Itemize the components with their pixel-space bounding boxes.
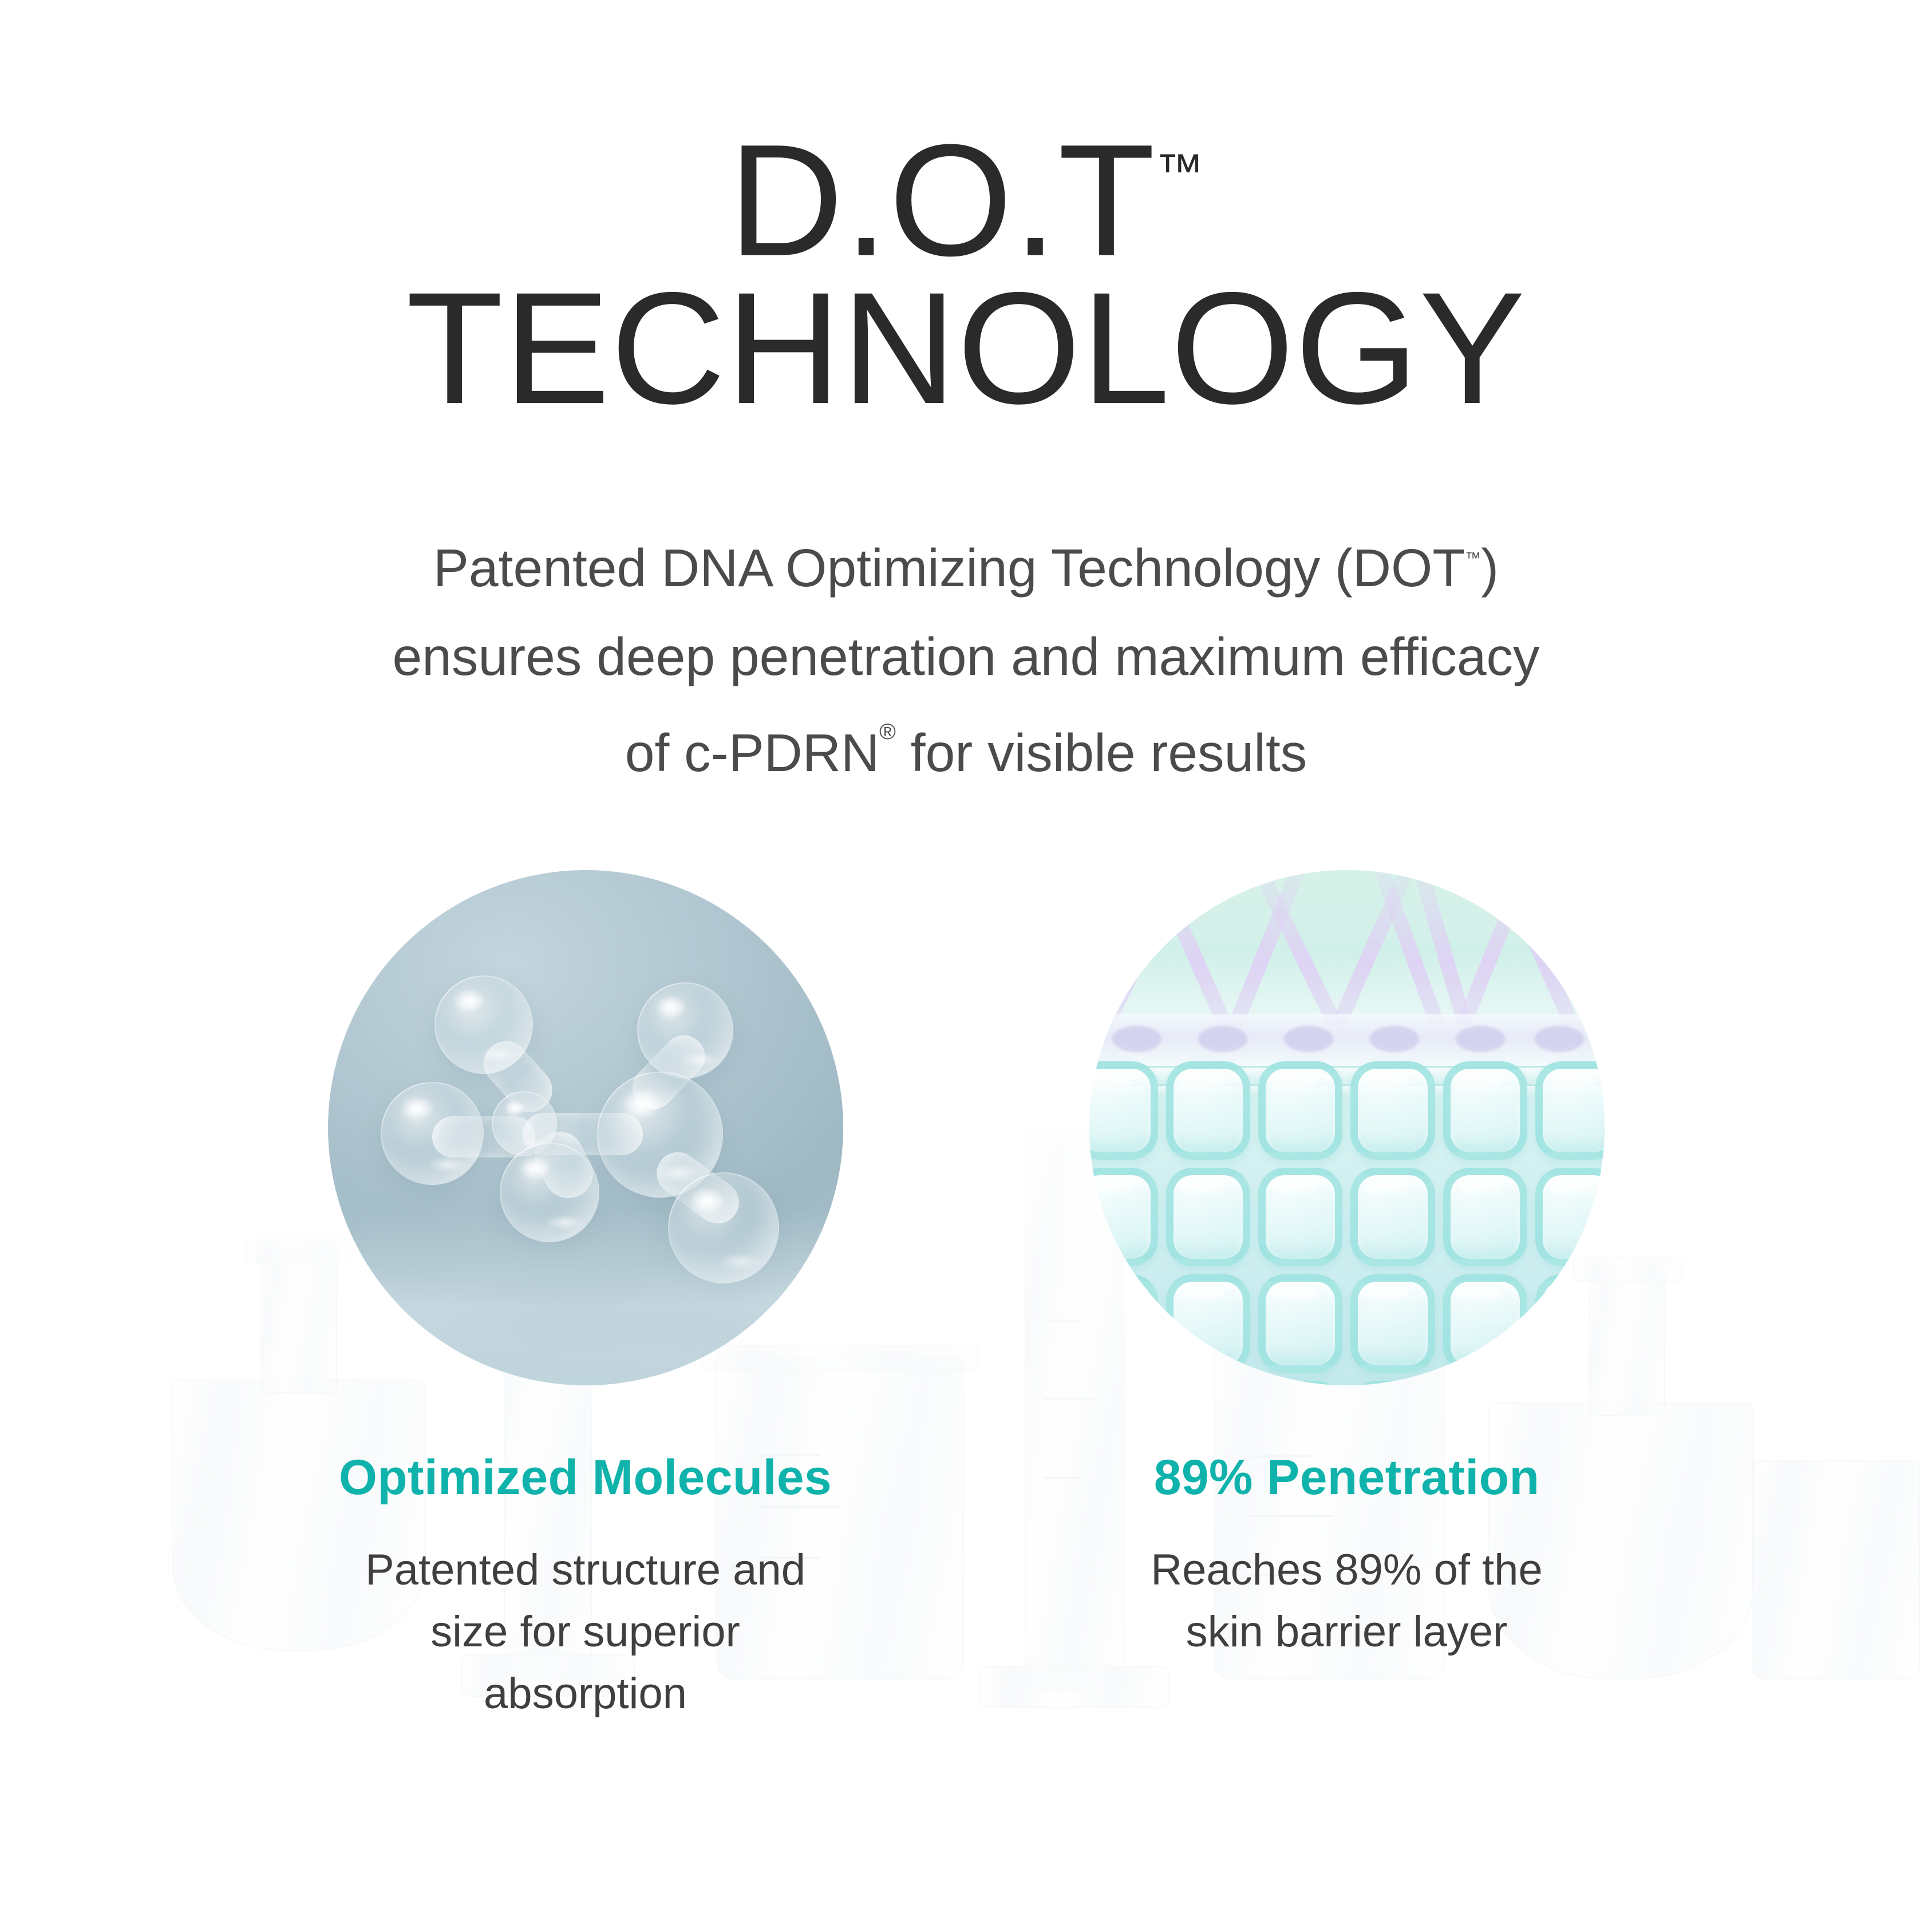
skin-cell bbox=[1166, 1168, 1250, 1266]
skin-cell bbox=[1089, 1381, 1158, 1385]
atom-sphere-bottom-center bbox=[500, 1143, 599, 1242]
registered-mark-icon: ® bbox=[879, 720, 896, 744]
skin-cell bbox=[1535, 1061, 1604, 1160]
skin-cell bbox=[1350, 1061, 1435, 1160]
trademark-icon-subtitle: ™ bbox=[1465, 549, 1481, 567]
headline-line-2: TECHNOLOGY bbox=[0, 271, 1932, 425]
skin-cell-grid bbox=[1089, 1056, 1605, 1385]
skin-cell bbox=[1258, 1274, 1342, 1373]
feature-card-optimized-molecules: Optimized Molecules Patented structure a… bbox=[328, 870, 843, 1725]
card-description-penetration: Reaches 89% of the skin barrier layer bbox=[1115, 1539, 1579, 1663]
subtitle-line-3-tail: for visible results bbox=[896, 723, 1307, 783]
dot-technology-infographic: D.O.T™ TECHNOLOGY Patented DNA Optimizin… bbox=[0, 0, 1932, 1932]
molecule-image bbox=[328, 870, 843, 1385]
card-title-optimized-molecules: Optimized Molecules bbox=[339, 1449, 832, 1506]
skin-cell bbox=[1166, 1061, 1250, 1160]
skin-cell bbox=[1089, 1061, 1158, 1160]
skin-cell bbox=[1258, 1381, 1342, 1385]
skin-barrier-image bbox=[1089, 870, 1605, 1385]
atom-sphere-top-left bbox=[434, 975, 533, 1074]
skin-cell bbox=[1443, 1381, 1527, 1385]
feature-cards: Optimized Molecules Patented structure a… bbox=[0, 870, 1932, 1725]
skin-cell bbox=[1535, 1168, 1604, 1266]
page-title: D.O.T™ TECHNOLOGY bbox=[0, 114, 1932, 425]
headline-line-1: D.O.T™ bbox=[0, 114, 1932, 271]
skin-cell bbox=[1443, 1061, 1527, 1160]
subtitle-line-1: Patented DNA Optimizing Technology (DOT™… bbox=[0, 518, 1932, 613]
card-title-penetration: 89% Penetration bbox=[1154, 1449, 1540, 1506]
subtitle: Patented DNA Optimizing Technology (DOT™… bbox=[0, 518, 1932, 797]
subtitle-line-3: of c-PDRN® for visible results bbox=[0, 701, 1932, 797]
skin-cell bbox=[1443, 1168, 1527, 1266]
skin-cell bbox=[1089, 1274, 1158, 1373]
skin-cell bbox=[1166, 1274, 1250, 1373]
atom-sphere-top-right bbox=[637, 982, 733, 1078]
subtitle-line-1-close: ) bbox=[1481, 538, 1499, 598]
skin-cell bbox=[1350, 1168, 1435, 1266]
trademark-icon: ™ bbox=[1156, 144, 1203, 197]
skin-cell bbox=[1350, 1274, 1435, 1373]
skin-cell bbox=[1350, 1381, 1435, 1385]
skin-cell bbox=[1258, 1061, 1342, 1160]
subtitle-line-1-text: Patented DNA Optimizing Technology (DOT bbox=[433, 538, 1465, 598]
skin-cell bbox=[1443, 1274, 1527, 1373]
subtitle-line-3-text: of c-PDRN bbox=[625, 723, 879, 783]
dna-strand-band bbox=[1089, 870, 1605, 1025]
skin-cell bbox=[1166, 1381, 1250, 1385]
feature-card-penetration: 89% Penetration Reaches 89% of the skin … bbox=[1089, 870, 1605, 1663]
atom-sphere-bottom-right bbox=[668, 1172, 779, 1283]
skin-cell bbox=[1089, 1168, 1158, 1266]
skin-cell bbox=[1535, 1381, 1604, 1385]
skin-cell bbox=[1258, 1168, 1342, 1266]
subtitle-line-2: ensures deep penetration and maximum eff… bbox=[0, 613, 1932, 701]
atom-sphere-left bbox=[381, 1082, 484, 1185]
card-description-optimized-molecules: Patented structure and size for superior… bbox=[345, 1539, 826, 1725]
molecule-diagram bbox=[328, 870, 843, 1385]
skin-cell bbox=[1535, 1274, 1604, 1373]
